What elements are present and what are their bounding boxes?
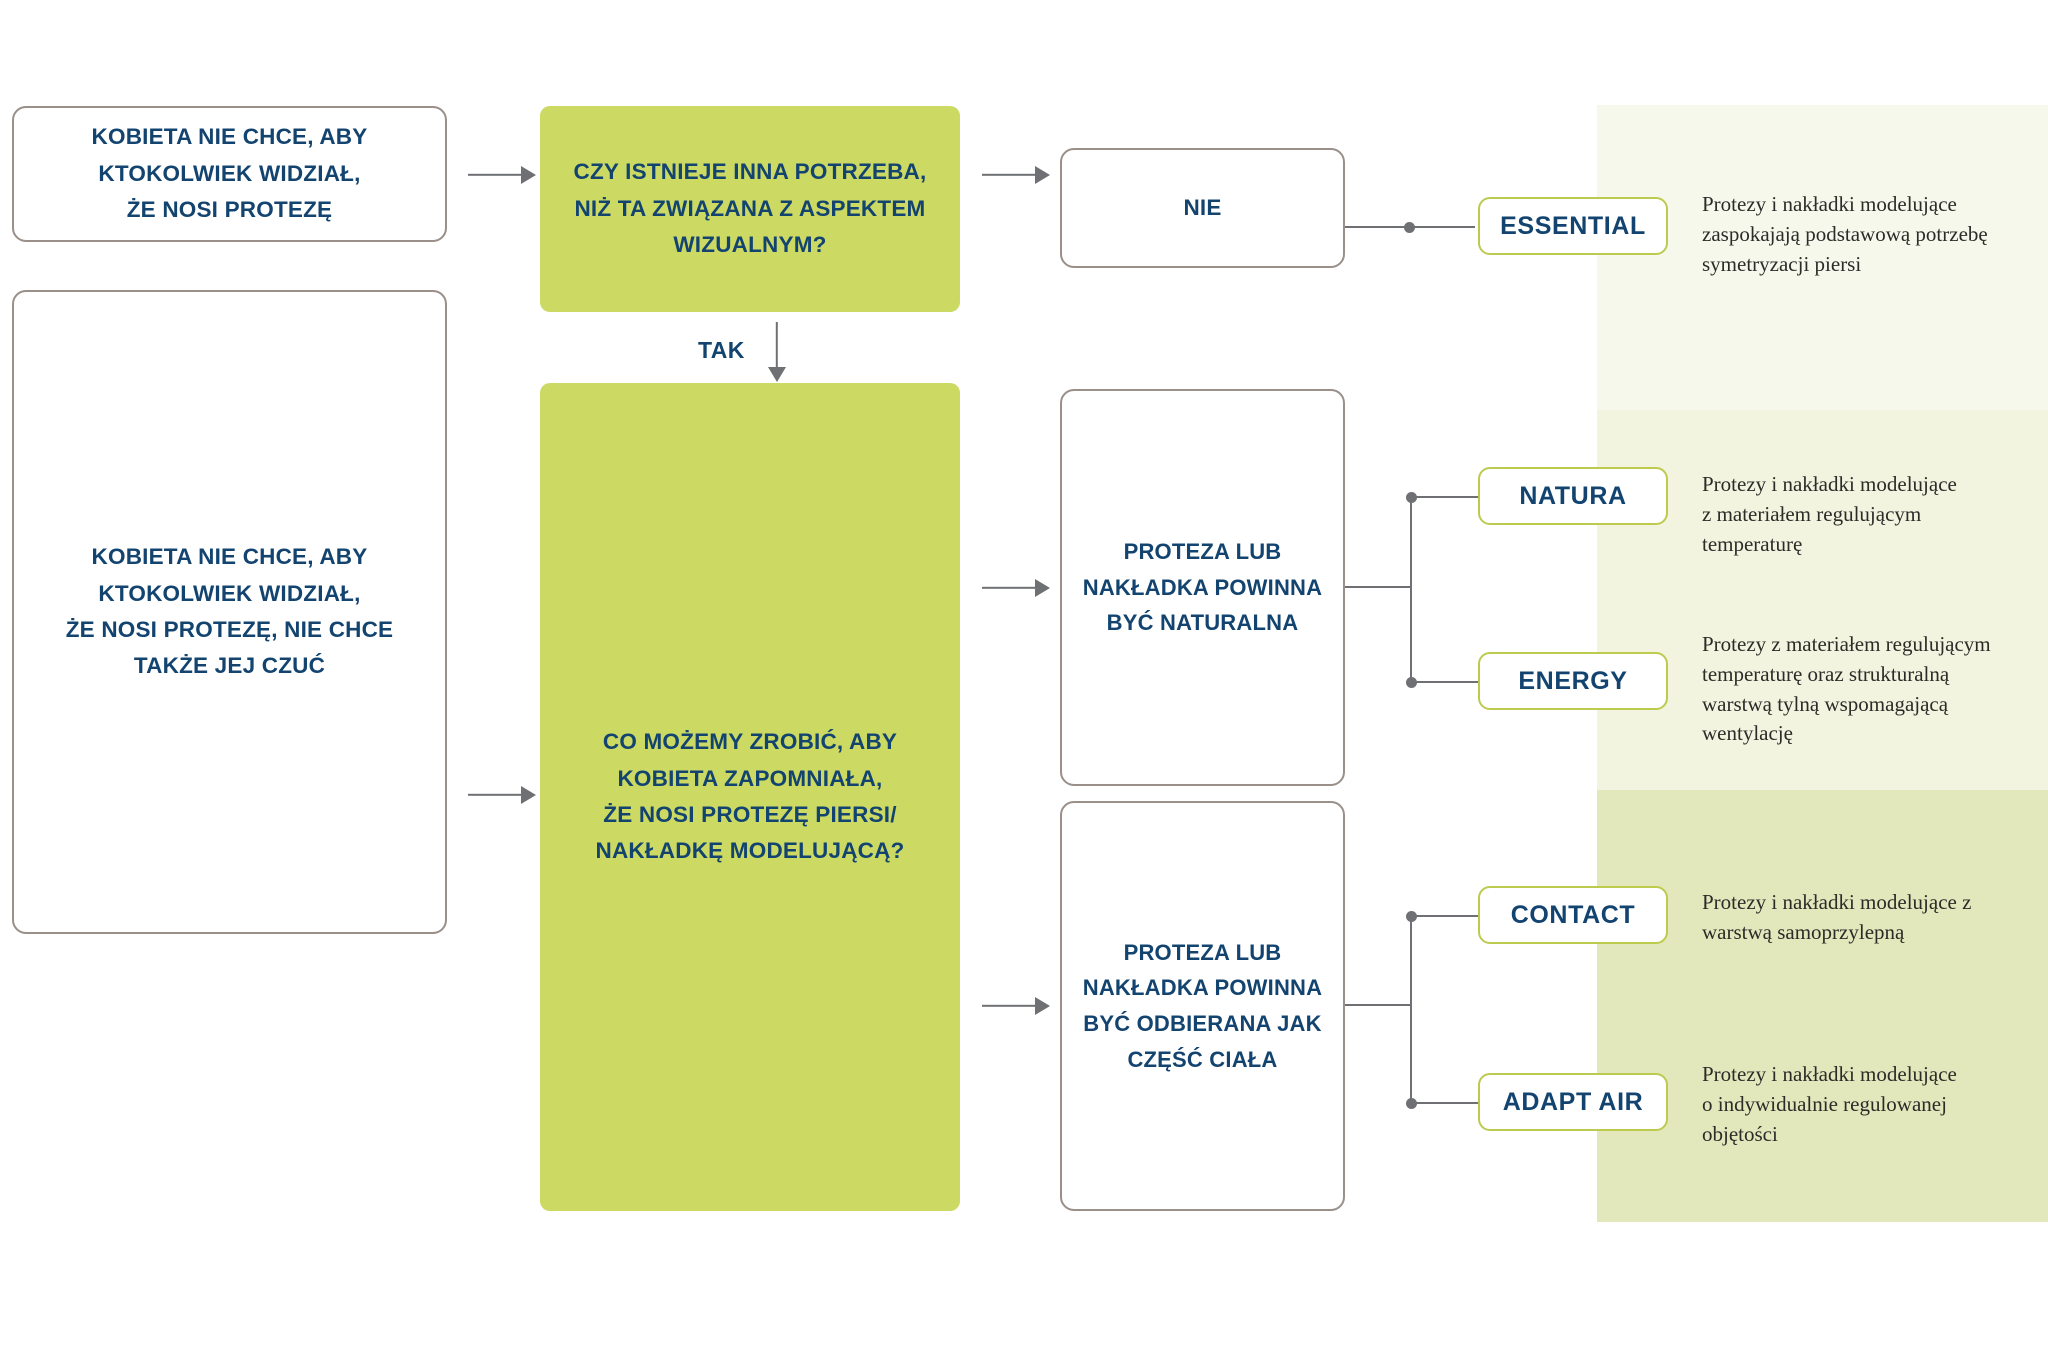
product-badge-natura[interactable]: NATURA	[1478, 467, 1668, 525]
product-badge-adaptair-label: ADAPT AIR	[1503, 1088, 1644, 1117]
product-badge-adaptair[interactable]: ADAPT AIR	[1478, 1073, 1668, 1131]
arrow-persona-top-to-question	[468, 165, 536, 185]
persona-bottom-box[interactable]: KOBIETA NIE CHCE, ABY KTOKOLWIEK WIDZIAŁ…	[12, 290, 447, 934]
outcome-natural-box[interactable]: PROTEZA LUB NAKŁADKA POWINNA BYĆ NATURAL…	[1060, 389, 1345, 786]
background-band-contact-adaptair	[1597, 790, 2048, 1222]
connector-natural-stem	[1345, 586, 1412, 588]
connector-bodypart-spine	[1410, 916, 1412, 1104]
connector-dot-essential	[1404, 222, 1415, 233]
connector-dot-natura	[1406, 492, 1417, 503]
product-badge-contact[interactable]: CONTACT	[1478, 886, 1668, 944]
product-badge-contact-label: CONTACT	[1511, 901, 1636, 930]
connector-bodypart-to-adaptair	[1410, 1102, 1478, 1104]
product-description-adaptair: Protezy i nakładki modelujące o indywidu…	[1702, 1060, 2022, 1149]
arrow-question-top-to-nie	[982, 165, 1050, 185]
connector-bodypart-stem	[1345, 1004, 1412, 1006]
connector-natural-spine	[1410, 497, 1412, 683]
persona-top-label: KOBIETA NIE CHCE, ABY KTOKOLWIEK WIDZIAŁ…	[78, 119, 382, 228]
connector-natural-to-natura	[1410, 496, 1478, 498]
question-top-label: CZY ISTNIEJE INNA POTRZEBA, NIŻ TA ZWIĄZ…	[560, 154, 941, 263]
flowchart-canvas: KOBIETA NIE CHCE, ABY KTOKOLWIEK WIDZIAŁ…	[0, 0, 2048, 1365]
product-description-essential: Protezy i nakładki modelujące zaspokajaj…	[1702, 190, 2022, 279]
arrow-tak-down	[766, 322, 788, 382]
outcome-natural-label: PROTEZA LUB NAKŁADKA POWINNA BYĆ NATURAL…	[1069, 534, 1336, 641]
outcome-bodypart-box[interactable]: PROTEZA LUB NAKŁADKA POWINNA BYĆ ODBIERA…	[1060, 801, 1345, 1211]
arrow-question-to-natural	[982, 578, 1050, 598]
persona-top-box[interactable]: KOBIETA NIE CHCE, ABY KTOKOLWIEK WIDZIAŁ…	[12, 106, 447, 242]
connector-dot-energy	[1406, 677, 1417, 688]
answer-nie-box[interactable]: NIE	[1060, 148, 1345, 268]
outcome-bodypart-label: PROTEZA LUB NAKŁADKA POWINNA BYĆ ODBIERA…	[1069, 935, 1336, 1078]
product-badge-essential-label: ESSENTIAL	[1500, 212, 1646, 241]
connector-dot-contact	[1406, 911, 1417, 922]
answer-nie-label: NIE	[1169, 190, 1235, 226]
product-badge-essential[interactable]: ESSENTIAL	[1478, 197, 1668, 255]
question-top-box[interactable]: CZY ISTNIEJE INNA POTRZEBA, NIŻ TA ZWIĄZ…	[540, 106, 960, 312]
edge-label-tak: TAK	[698, 337, 745, 364]
connector-dot-adaptair	[1406, 1098, 1417, 1109]
product-description-contact: Protezy i nakładki modelujące z warstwą …	[1702, 888, 2022, 948]
persona-bottom-label: KOBIETA NIE CHCE, ABY KTOKOLWIEK WIDZIAŁ…	[52, 539, 408, 685]
arrow-persona-bottom-to-question	[468, 785, 536, 805]
question-bottom-label: CO MOŻEMY ZROBIĆ, ABY KOBIETA ZAPOMNIAŁA…	[582, 724, 919, 870]
question-bottom-box[interactable]: CO MOŻEMY ZROBIĆ, ABY KOBIETA ZAPOMNIAŁA…	[540, 383, 960, 1211]
connector-bodypart-to-contact	[1410, 915, 1478, 917]
product-badge-energy[interactable]: ENERGY	[1478, 652, 1668, 710]
product-badge-energy-label: ENERGY	[1518, 667, 1627, 696]
product-badge-natura-label: NATURA	[1519, 482, 1626, 511]
product-description-natura: Protezy i nakładki modelujące z materiał…	[1702, 470, 2022, 559]
connector-natural-to-energy	[1410, 681, 1478, 683]
arrow-question-to-bodypart	[982, 996, 1050, 1016]
product-description-energy: Protezy z materiałem regulującym tempera…	[1702, 630, 2022, 749]
